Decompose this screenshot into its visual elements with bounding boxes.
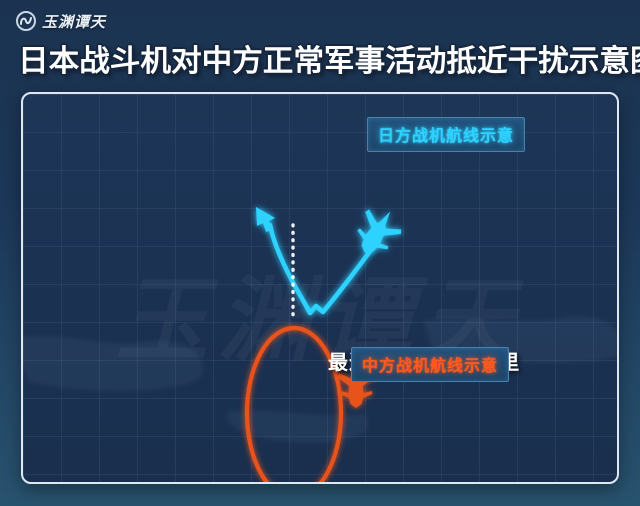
china-flight-path: [247, 328, 341, 484]
japan-route-label: 日方战机航线示意: [367, 117, 525, 152]
brand-logo: 玉渊谭天: [16, 8, 106, 34]
flight-path-diagram: [23, 94, 619, 484]
compass-swirl-icon: [16, 11, 36, 31]
japan-flight-path: [256, 207, 373, 313]
brand-name: 玉渊谭天: [42, 11, 106, 32]
china-route-label: 中方战机航线示意: [351, 347, 509, 382]
page-title: 日本战斗机对中方正常军事活动抵近干扰示意图: [18, 36, 640, 80]
japan-fighter-jet-icon: [347, 200, 408, 263]
header: 玉渊谭天 日本战斗机对中方正常军事活动抵近干扰示意图: [0, 0, 640, 86]
infographic-root: 玉渊谭天 日本战斗机对中方正常军事活动抵近干扰示意图 玉渊谭天: [0, 0, 640, 506]
landmass-shapes: [23, 316, 619, 442]
diagram-panel: 玉渊谭天: [21, 92, 619, 484]
